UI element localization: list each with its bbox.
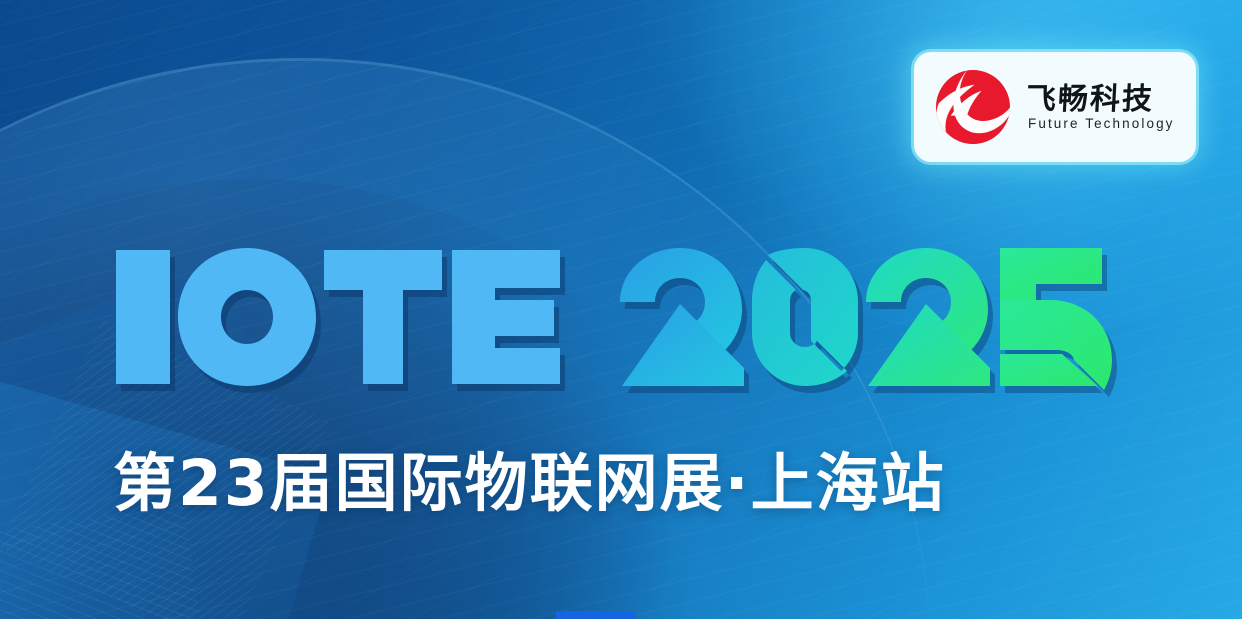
event-subtitle: 第23届国际物联网展·上海站 <box>113 452 1133 515</box>
company-name-cn: 飞畅科技 <box>1025 85 1175 115</box>
sponsor-logo-badge[interactable]: 飞畅科技 Future Technology <box>914 52 1196 162</box>
company-name-en: Future Technology <box>1026 117 1175 131</box>
letter-i-glyph <box>112 244 174 390</box>
bottom-accent-bar <box>556 611 636 619</box>
logo-text-block: 飞畅科技 Future Technology <box>1026 83 1175 131</box>
year-2025-mark <box>616 244 1116 390</box>
feichang-fc-sphere-logo-icon <box>930 64 1016 150</box>
digit-2-second-glyph <box>862 244 994 390</box>
letter-t-glyph <box>320 244 446 390</box>
geometric-facet-4 <box>0 504 214 619</box>
iote-2025-event-banner: 飞畅科技 Future Technology <box>0 0 1242 619</box>
digit-0-glyph <box>748 244 862 390</box>
letter-o-glyph <box>174 244 320 390</box>
digit-2-first-glyph <box>616 244 748 390</box>
iote-lettermark <box>112 244 564 390</box>
iote-2025-wordmark <box>112 244 1116 394</box>
letter-e-glyph <box>446 244 564 390</box>
digit-5-glyph <box>994 244 1116 390</box>
